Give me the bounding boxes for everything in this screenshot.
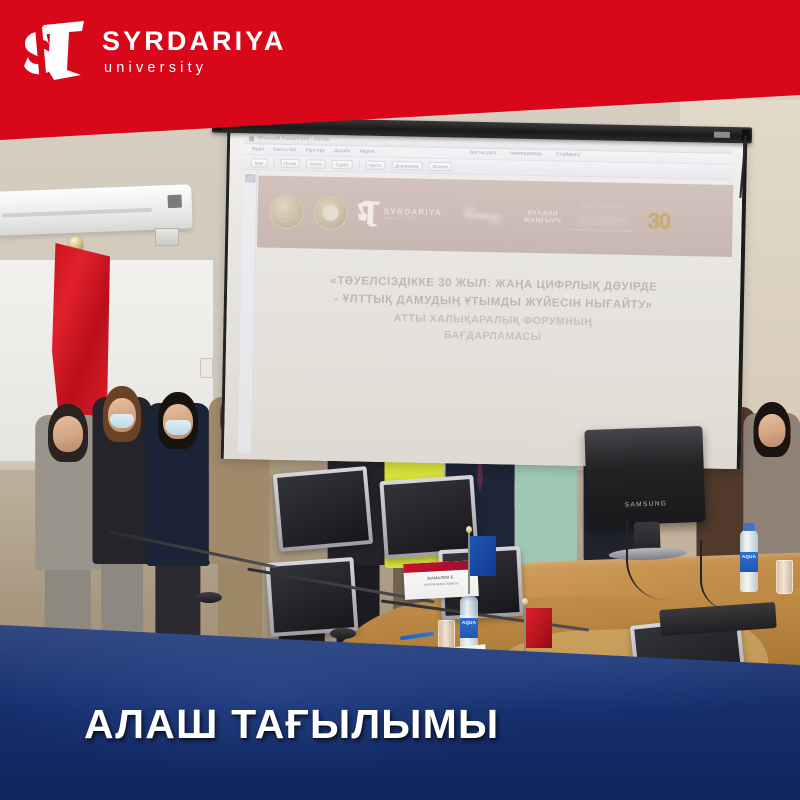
banner-stage: Microsoft PowerPoint - Forum Файл Басты … bbox=[0, 0, 800, 800]
desk-flag-red-cloth bbox=[526, 608, 552, 648]
slide-thumbnail-pane[interactable] bbox=[238, 170, 258, 453]
ruhani-zhangyru-logo: РУХАНИ ЖАҢҒЫРУ bbox=[524, 209, 562, 225]
brand-subtitle: university bbox=[104, 61, 286, 76]
toolbar-button-format-label: Пішім bbox=[284, 160, 296, 165]
toolbar-button-table-label: Кесте bbox=[369, 162, 381, 167]
toolbar-button-picture-label: Сурет bbox=[336, 162, 348, 167]
toolbar-button-text[interactable]: Мәтін bbox=[306, 159, 326, 168]
university-logo[interactable]: SYRDARIYA university bbox=[22, 18, 286, 82]
university-brand-text: SYRDARIYA university bbox=[102, 24, 286, 76]
ruhani-line-2: ЖАҢҒЫРУ bbox=[524, 217, 562, 225]
menu-item-file[interactable]: Файл bbox=[252, 146, 264, 152]
slide-thumbnail-item[interactable] bbox=[245, 174, 255, 182]
wall-control-box bbox=[155, 228, 179, 246]
anniversary-number: 30 bbox=[644, 210, 674, 233]
toolbar-button-table[interactable]: Кесте bbox=[365, 160, 385, 169]
institution-seal-icon bbox=[313, 196, 348, 231]
toolbar-button-paste-label: Қою bbox=[255, 160, 264, 165]
app-window-title: Microsoft PowerPoint - Forum bbox=[258, 135, 330, 142]
bottle-label-1: AQUA bbox=[460, 618, 478, 638]
rail-brand-icon bbox=[714, 132, 730, 138]
desk-monitor-2-screen bbox=[384, 479, 475, 555]
participant-head bbox=[759, 414, 786, 447]
menu-item-insert[interactable]: Кірістіру bbox=[306, 147, 325, 153]
partner-ministry-logo: Қазақстан Республикасы Мәдениет және спо… bbox=[571, 204, 634, 233]
toolbar-separator bbox=[273, 158, 274, 167]
ribbon-tab-transitions[interactable]: Беттер реті bbox=[470, 150, 496, 157]
projector-screen: Microsoft PowerPoint - Forum Файл Басты … bbox=[221, 129, 748, 469]
ac-badge-icon bbox=[167, 195, 181, 209]
slide-headline-line-1: «ТӘУЕЛСІЗДІККЕ 30 ЖЫЛ: ЖАҢА ЦИФРЛЫҚ ДӘУІ… bbox=[330, 275, 657, 294]
participant-head bbox=[53, 416, 83, 452]
su-monogram-icon bbox=[22, 18, 88, 82]
brand-name: SYRDARIYA bbox=[102, 28, 286, 55]
desk-monitor-5 bbox=[266, 557, 359, 637]
monitor-brand-label: SAMSUNG bbox=[625, 500, 668, 508]
desk-flag-red-finial-icon bbox=[522, 598, 528, 605]
slide-su-logo: SYRDARIYA university bbox=[357, 200, 442, 228]
slide-logo-band: SYRDARIYA university РУХАНИ ЖАҢҒЫРУ Қаза… bbox=[257, 175, 733, 257]
bottle-label-2: AQUA bbox=[740, 552, 758, 572]
desk-flag-blue-cloth bbox=[470, 536, 496, 576]
toolbar-separator-2 bbox=[358, 160, 359, 169]
app-window-icon bbox=[249, 136, 254, 141]
drinking-glass-2 bbox=[776, 560, 793, 594]
independence-anniversary-logo: ТӘУЕЛСІЗДІК 30 bbox=[644, 206, 674, 233]
partner-building-icon bbox=[578, 210, 628, 227]
microphone-base-1 bbox=[196, 592, 222, 603]
slide-surface: Microsoft PowerPoint - Forum Файл Басты … bbox=[224, 129, 744, 469]
desk-monitor-1 bbox=[273, 466, 373, 552]
toolbar-button-text-label: Мәтін bbox=[310, 161, 322, 166]
su-monogram-icon bbox=[357, 200, 380, 226]
ribbon-tab-animations[interactable]: Анимациялар bbox=[510, 150, 542, 157]
toolbar-button-chart[interactable]: Диаграмма bbox=[391, 161, 423, 171]
menu-item-design[interactable]: Дизайн bbox=[334, 148, 351, 154]
bottle-cap-2 bbox=[743, 523, 755, 531]
toolbar-button-chart-label: Диаграмма bbox=[395, 163, 419, 168]
soaring-bird-icon bbox=[452, 198, 515, 233]
toolbar-button-size-label: Өлшем bbox=[433, 163, 448, 168]
ribbon-tab-slideshow[interactable]: Слайдшоу bbox=[556, 151, 580, 157]
toolbar-button-picture[interactable]: Сурет bbox=[332, 159, 353, 168]
footer-title: АЛАШ ТАҒЫЛЫМЫ bbox=[84, 701, 499, 748]
toolbar-button-size[interactable]: Өлшем bbox=[429, 161, 453, 170]
partner-caption-bottom: Мәдениет және спорт министрлігі bbox=[571, 228, 633, 233]
toolbar-button-format[interactable]: Пішім bbox=[280, 158, 300, 167]
desk-monitor-2 bbox=[379, 475, 478, 559]
ac-vent bbox=[2, 208, 152, 218]
desk-monitor-5-screen bbox=[270, 561, 354, 632]
toolbar-button-paste[interactable]: Қою bbox=[251, 158, 268, 167]
kazakhstan-state-emblem-icon bbox=[269, 195, 304, 230]
menu-item-view[interactable]: Көрініс bbox=[360, 148, 376, 154]
partner-caption-top: Қазақстан Республикасы bbox=[572, 204, 634, 209]
water-bottle-2: AQUA bbox=[740, 530, 758, 592]
menu-item-home[interactable]: Басты бет bbox=[273, 147, 297, 153]
desk-monitor-1-screen bbox=[277, 470, 369, 547]
samsung-monitor: SAMSUNG bbox=[584, 426, 705, 526]
desk-flag-blue-finial-icon bbox=[466, 526, 472, 533]
slide-headline: «ТӘУЕЛСІЗДІККЕ 30 ЖЫЛ: ЖАҢА ЦИФРЛЫҚ ДӘУІ… bbox=[266, 272, 720, 349]
microphone-base-2 bbox=[330, 628, 356, 639]
participant-face-mask bbox=[165, 420, 191, 435]
